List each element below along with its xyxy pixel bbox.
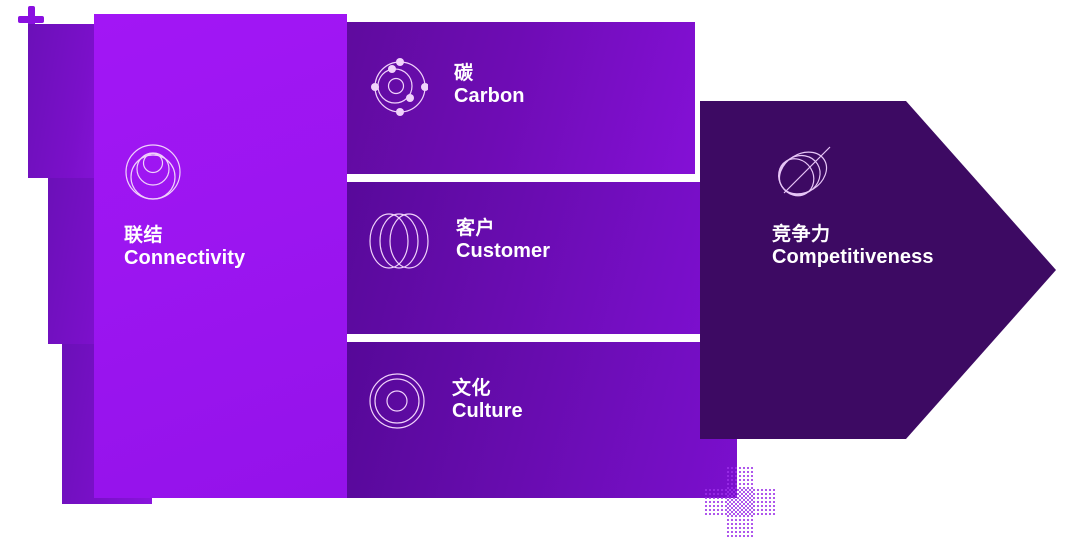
atom-orbit-icon [368,56,428,116]
overlapping-ellipses-icon [368,212,430,270]
nested-spheres-icon [124,143,182,201]
concentric-circles-icon [368,372,426,430]
carbon-label-en: Carbon [454,85,525,109]
carbon-label-cn: 碳 [454,63,525,85]
connectivity-label-cn: 联结 [124,225,245,247]
customer-labels: 客户 Customer [456,218,550,264]
diagram-canvas: 联结 Connectivity 碳 Carbon [0,0,1076,540]
competitiveness-labels: 竞争力 Competitiveness [772,224,934,270]
tilted-rings-arrow-icon [772,140,838,202]
group-competitiveness: 竞争力 Competitiveness [772,140,934,270]
group-culture: 文化 Culture [368,372,523,430]
competitiveness-label-cn: 竞争力 [772,224,934,246]
carbon-labels: 碳 Carbon [454,63,525,109]
culture-labels: 文化 Culture [452,378,523,424]
group-carbon: 碳 Carbon [368,56,525,116]
connectivity-labels: 联结 Connectivity [124,225,245,271]
culture-label-en: Culture [452,400,523,424]
connectivity-label-en: Connectivity [124,247,245,271]
customer-label-cn: 客户 [456,218,550,240]
customer-label-en: Customer [456,240,550,264]
competitiveness-label-en: Competitiveness [772,246,934,270]
culture-label-cn: 文化 [452,378,523,400]
group-connectivity: 联结 Connectivity [124,143,245,271]
group-customer: 客户 Customer [368,212,550,270]
